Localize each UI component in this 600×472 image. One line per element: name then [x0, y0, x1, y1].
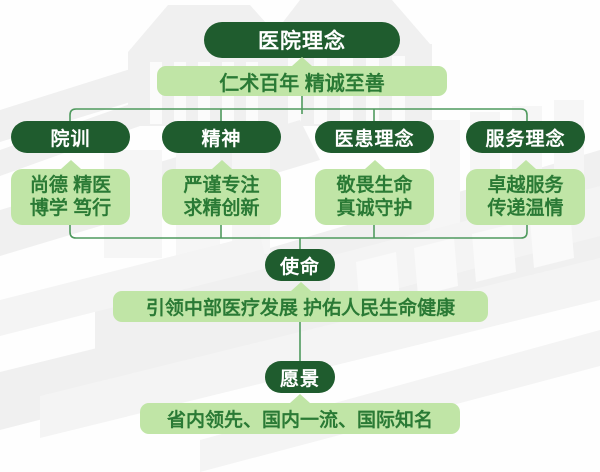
mission-text: 引领中部医疗发展 护佑人民生命健康: [146, 293, 455, 320]
column-content-patient-relations: 敬畏生命 真诚守护: [315, 169, 434, 225]
column-content-line-2: 求精创新: [183, 197, 259, 220]
column-content-line-2: 博学 笃行: [30, 197, 111, 220]
notch-icon: [292, 57, 312, 66]
tagline-band: 仁术百年 精诚至善: [157, 66, 447, 96]
column-content-spirit: 严谨专注 求精创新: [162, 169, 281, 225]
mission-band: 引领中部医疗发展 护佑人民生命健康: [113, 291, 488, 322]
column-heading-patient-relations: 医患理念: [315, 121, 434, 153]
notch-icon: [212, 160, 232, 169]
mission-pill: 使命: [265, 249, 335, 281]
concept-diagram: 医院理念 仁术百年 精诚至善 院训 尚德 精医 博学 笃行 精神 严谨专注 求精…: [0, 0, 600, 472]
column-heading-service: 服务理念: [466, 121, 585, 153]
notch-icon: [291, 282, 311, 291]
column-content-line-1: 严谨专注: [183, 174, 259, 197]
column-heading-motto: 院训: [11, 121, 130, 153]
vision-band: 省内领先、国内一流、国际知名: [140, 403, 460, 434]
column-content-line-2: 真诚守护: [336, 197, 412, 220]
column-content-line-1: 敬畏生命: [336, 174, 412, 197]
column-content-line-1: 卓越服务: [487, 174, 563, 197]
column-content-line-1: 尚德 精医: [30, 174, 111, 197]
column-heading-spirit: 精神: [162, 121, 281, 153]
notch-icon: [61, 160, 81, 169]
notch-icon: [365, 160, 385, 169]
notch-icon: [516, 160, 536, 169]
vision-text: 省内领先、国内一流、国际知名: [167, 405, 433, 432]
column-content-line-2: 传递温情: [487, 197, 563, 220]
column-content-motto: 尚德 精医 博学 笃行: [11, 169, 130, 225]
tagline-text: 仁术百年 精诚至善: [219, 67, 385, 96]
column-content-service: 卓越服务 传递温情: [466, 169, 585, 225]
vision-pill: 愿景: [265, 361, 335, 393]
diagram-title-pill: 医院理念: [204, 22, 400, 58]
notch-icon: [290, 394, 310, 403]
